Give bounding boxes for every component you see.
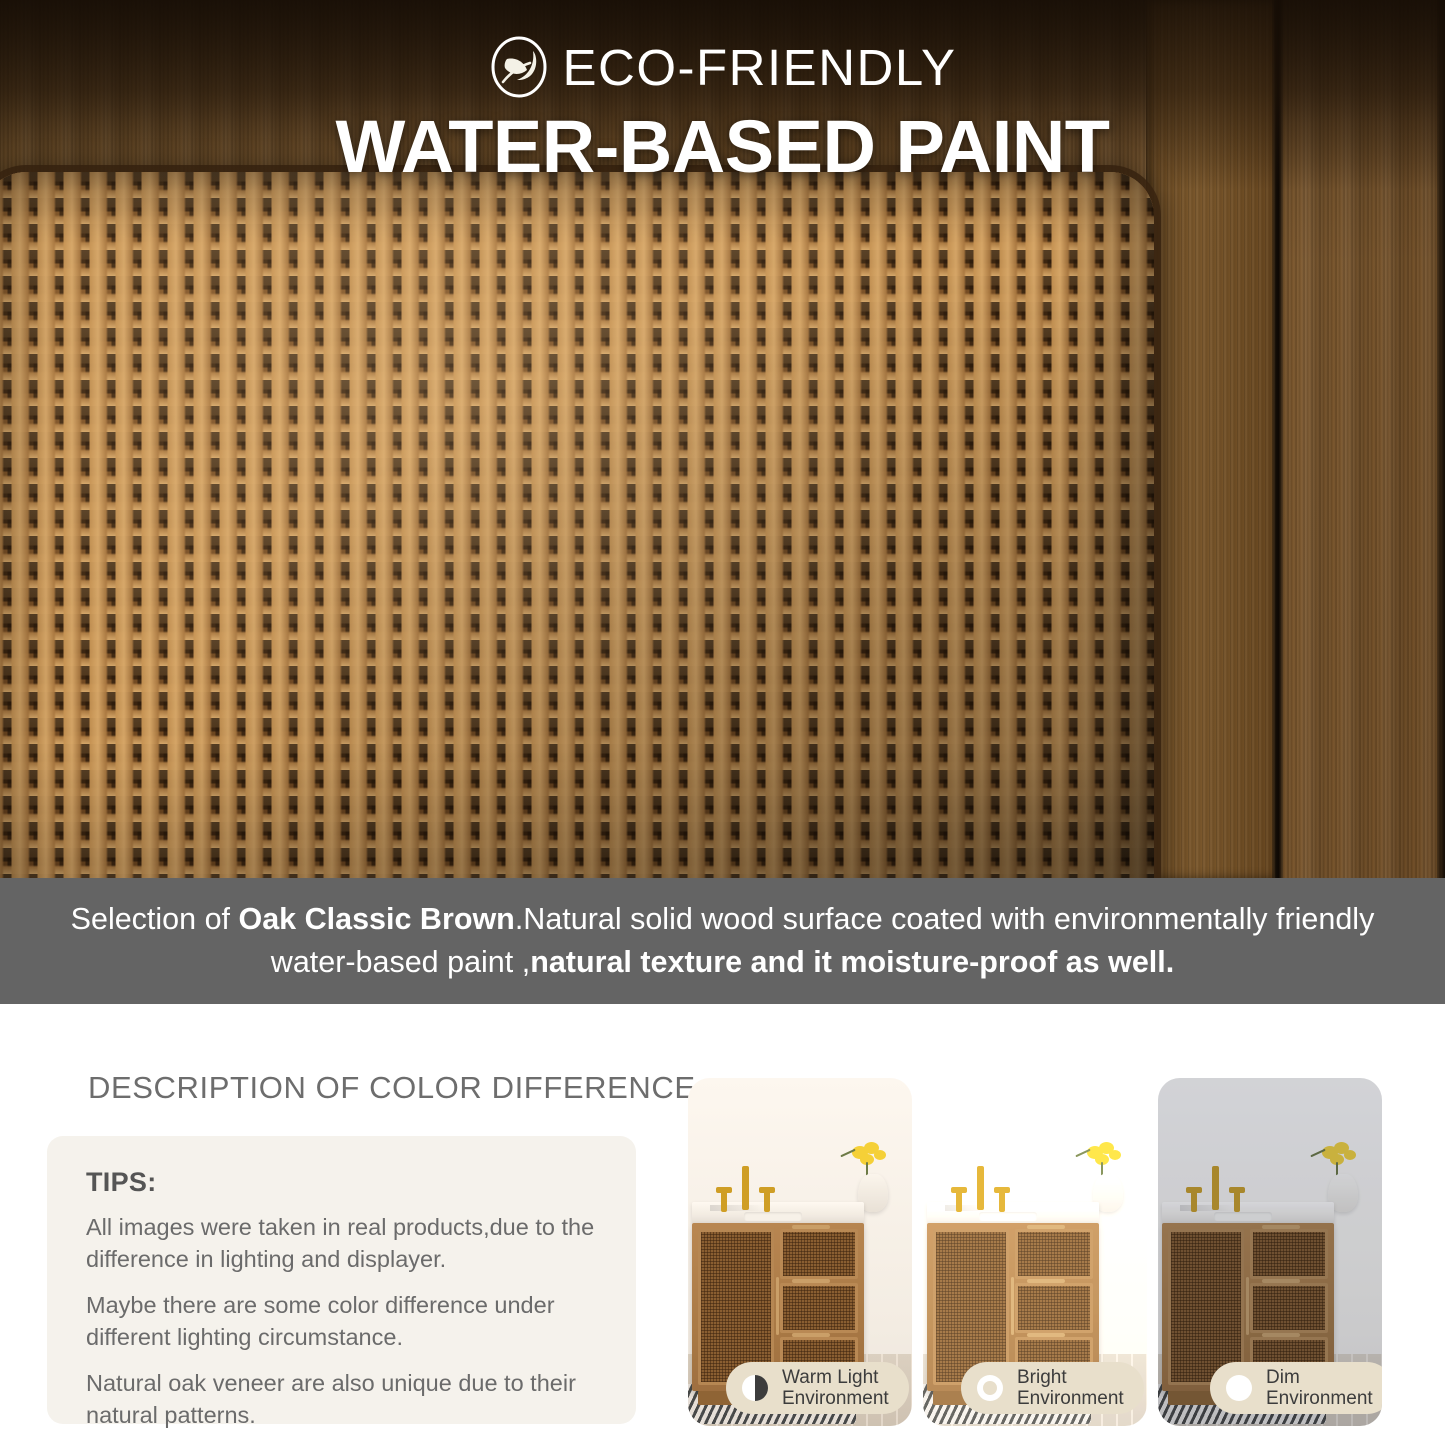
thumbnail-label-pill: Dim Environment — [1210, 1362, 1382, 1414]
eco-friendly-row: ECO-FRIENDLY — [0, 34, 1445, 100]
hero-title: WATER-BASED PAINT — [0, 109, 1445, 184]
band-line2-bold: natural texture and it moisture-proof as… — [530, 945, 1174, 979]
tips-heading: TIPS: — [86, 1167, 600, 1198]
thumbnail-label-pill: Bright Environment — [961, 1362, 1144, 1414]
section-title: DESCRIPTION OF COLOR DIFFERENCE — [88, 1070, 696, 1106]
thumbnail-label-pill: Warm Light Environment — [726, 1362, 909, 1414]
band-line1-prefix: Selection of — [71, 902, 239, 936]
leaf-icon — [489, 34, 549, 100]
rattan-panel — [0, 172, 1154, 878]
band-line1-bold: Oak Classic Brown — [239, 902, 515, 936]
thumbnail-gallery: Warm Light Environment — [688, 1078, 1398, 1428]
tips-paragraph-3: Natural oak veneer are also unique due t… — [86, 1367, 600, 1432]
tips-box: TIPS: All images were taken in real prod… — [47, 1136, 636, 1424]
eco-friendly-label: ECO-FRIENDLY — [563, 42, 957, 93]
thumbnail-label-text: Warm Light Environment — [782, 1367, 889, 1410]
filled-circle-icon — [1224, 1373, 1254, 1403]
hero-heading-group: ECO-FRIENDLY WATER-BASED PAINT — [0, 34, 1445, 184]
description-band-text: Selection of Oak Classic Brown.Natural s… — [43, 898, 1403, 985]
thumbnail-label-text: Dim Environment — [1266, 1367, 1373, 1410]
description-band: Selection of Oak Classic Brown.Natural s… — [0, 878, 1445, 1004]
ring-circle-icon — [975, 1373, 1005, 1403]
thumbnail-warm-light[interactable]: Warm Light Environment — [688, 1078, 912, 1426]
thumbnail-dim[interactable]: Dim Environment — [1158, 1078, 1382, 1426]
thumbnail-bright[interactable]: Bright Environment — [923, 1078, 1147, 1426]
tips-paragraph-2: Maybe there are some color difference un… — [86, 1289, 600, 1354]
thumbnail-label-text: Bright Environment — [1017, 1367, 1124, 1410]
band-line1-suffix: .Natural solid wood surface coated with … — [515, 902, 1268, 936]
rattan-shading — [0, 172, 1154, 878]
hero-banner: ECO-FRIENDLY WATER-BASED PAINT — [0, 0, 1445, 878]
tips-paragraph-1: All images were taken in real products,d… — [86, 1211, 600, 1276]
half-circle-icon — [740, 1373, 770, 1403]
